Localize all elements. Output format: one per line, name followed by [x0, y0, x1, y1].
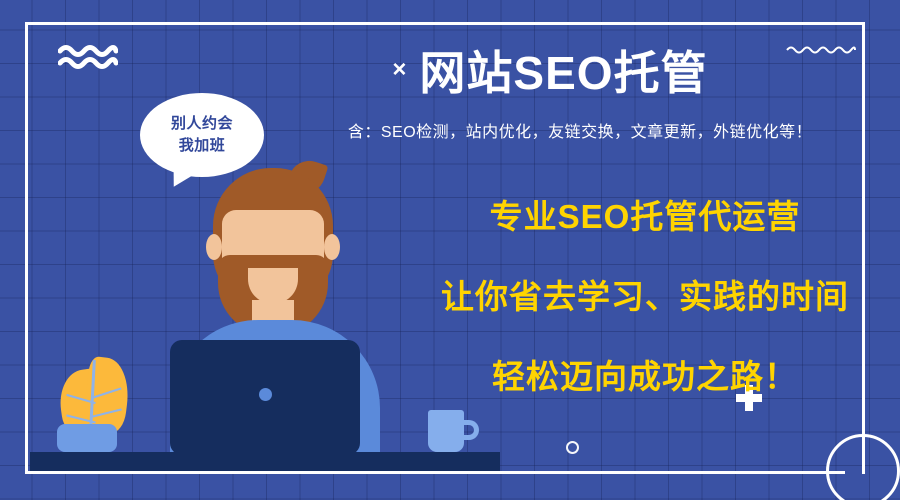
- mouth: [255, 270, 291, 282]
- frame-left-edge: [25, 22, 28, 474]
- plant-pot: [57, 424, 117, 452]
- desk-surface-right: [410, 452, 500, 465]
- speech-bubble-text: 别人约会 我加班: [171, 113, 233, 157]
- promo-lines: 专业SEO托管代运营 让你省去学习、实践的时间 轻松迈向成功之路！: [420, 190, 870, 398]
- frame-bottom-edge: [25, 471, 845, 474]
- banner-subtitle: 含：SEO检测，站内优化，友链交换，文章更新，外链优化等！: [300, 118, 860, 142]
- mug-handle: [461, 420, 479, 440]
- speech-bubble: 别人约会 我加班: [140, 93, 264, 177]
- circle-dot-icon: [566, 441, 579, 454]
- laptop-logo-dot: [259, 388, 272, 401]
- wave-line-icon: [785, 43, 857, 61]
- frame-top-edge: [25, 22, 865, 25]
- promo-line-2: 让你省去学习、实践的时间: [420, 270, 870, 318]
- title-cross-icon: ×: [392, 56, 407, 83]
- promo-line-3: 轻松迈向成功之路！: [420, 350, 870, 398]
- seo-hosting-banner: ×网站SEO托管 含：SEO检测，站内优化，友链交换，文章更新，外链优化等！ 专…: [0, 0, 900, 500]
- promo-line-1: 专业SEO托管代运营: [420, 190, 870, 238]
- coffee-mug-icon: [428, 410, 464, 452]
- ear-left: [206, 234, 222, 260]
- wave-lines-icon: [58, 44, 118, 75]
- title-text: 网站SEO托管: [419, 47, 707, 99]
- ear-right: [324, 234, 340, 260]
- banner-title: ×网站SEO托管: [330, 42, 770, 101]
- circle-outline-icon: [826, 434, 900, 500]
